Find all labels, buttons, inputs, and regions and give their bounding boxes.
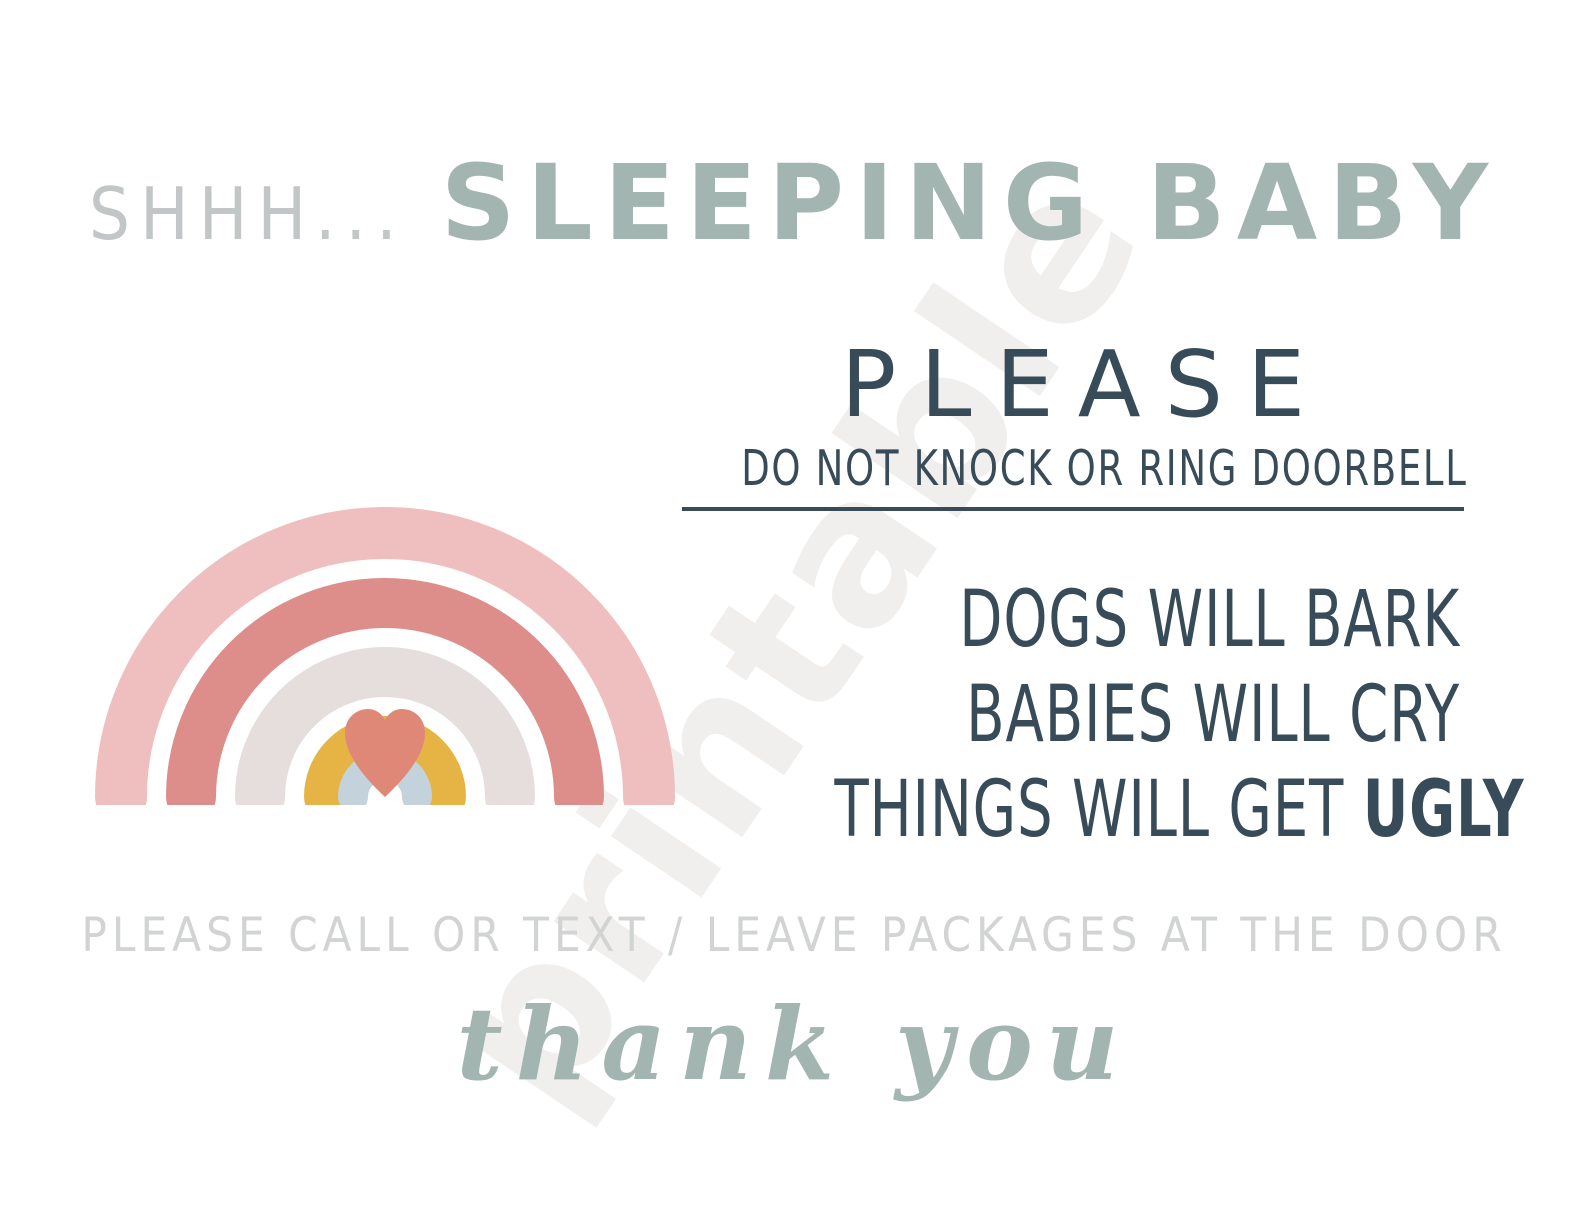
consequences-list: DOGS WILL BARK BABIES WILL CRY THINGS WI… xyxy=(678,573,1468,858)
consequence-line: DOGS WILL BARK xyxy=(834,573,1460,668)
please-heading: PLEASE xyxy=(678,338,1468,432)
page-title: SHHH...SLEEPING BABY xyxy=(0,142,1588,264)
consequence-emphasis: UGLY xyxy=(1363,765,1525,855)
footer-note: PLEASE CALL OR TEXT / LEAVE PACKAGES AT … xyxy=(0,908,1588,963)
consequence-text: THINGS WILL GET xyxy=(834,765,1362,855)
doorbell-underline xyxy=(682,507,1464,511)
consequence-line: BABIES WILL CRY xyxy=(834,668,1460,763)
headline-prefix: SHHH... xyxy=(89,172,407,256)
thank-you-signoff: thank you xyxy=(0,985,1588,1103)
sleeping-baby-door-sign: printable SHHH...SLEEPING BABY PLEASE DO… xyxy=(0,0,1588,1227)
main-message-block: PLEASE DO NOT KNOCK OR RING DOORBELL DOG… xyxy=(678,338,1468,858)
rainbow-illustration xyxy=(95,415,675,805)
doorbell-subheading: DO NOT KNOCK OR RING DOORBELL xyxy=(741,440,1405,497)
consequence-line: THINGS WILL GET UGLY xyxy=(834,763,1460,858)
consequence-text: DOGS WILL BARK xyxy=(959,575,1460,665)
headline-main: SLEEPING BABY xyxy=(441,142,1499,264)
consequence-text: BABIES WILL CRY xyxy=(966,670,1460,760)
